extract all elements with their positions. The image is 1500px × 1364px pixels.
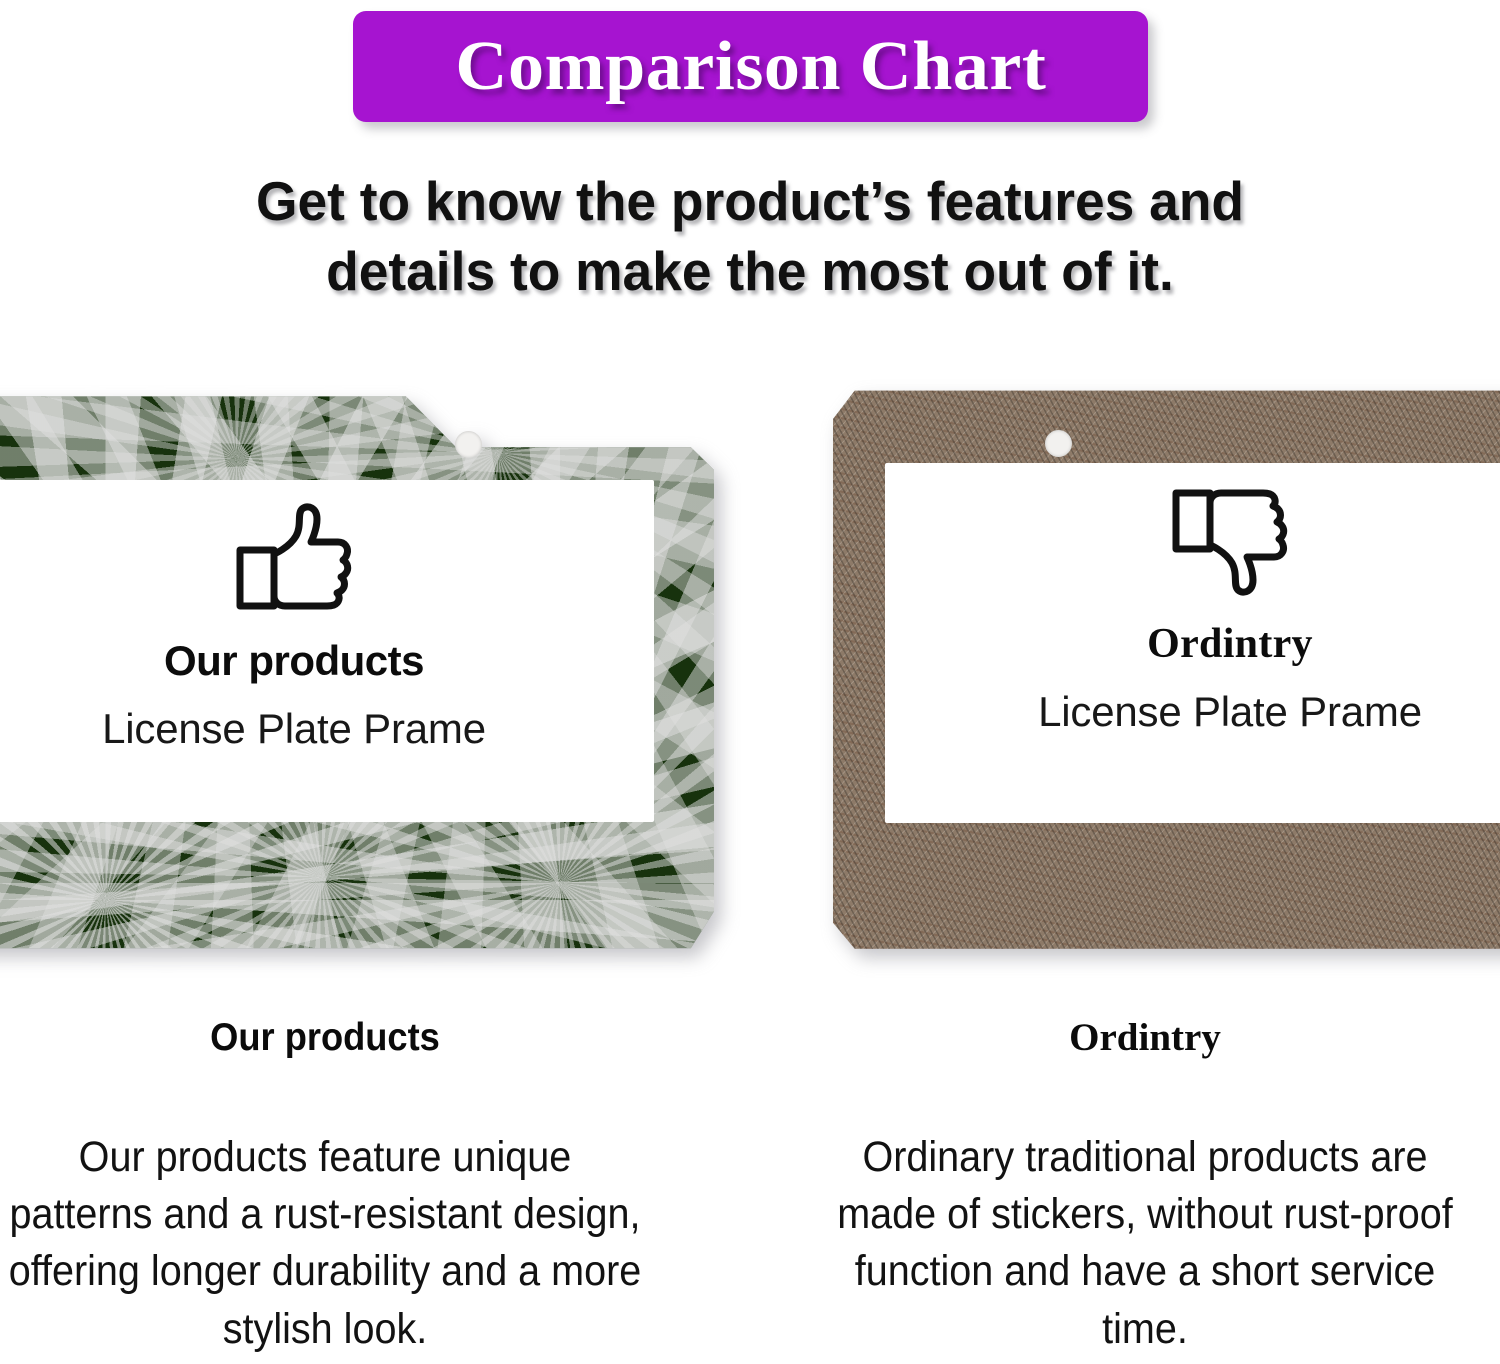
column-body-ours: Our products feature unique patterns and… [3, 1129, 647, 1358]
comparison-chart-page: Comparison Chart Get to know the product… [0, 0, 1500, 1364]
comparison-column-ours: Our products Our products feature unique… [0, 1018, 675, 1358]
column-heading-ordinary: Ordintry [795, 1018, 1495, 1057]
thumbs-down-icon [1171, 485, 1289, 597]
subtitle-line-1: Get to know the product’s features and [23, 166, 1478, 236]
page-title: Comparison Chart [455, 32, 1046, 102]
column-body-ordinary: Ordinary traditional products are made o… [823, 1129, 1467, 1358]
window-title-ours: Our products [164, 640, 424, 682]
comparison-columns: Our products Our products feature unique… [0, 1018, 1500, 1364]
plate-window-ours: Our products License Plate Prame [0, 480, 654, 822]
product-frame-ordinary: Ordintry License Plate Prame [833, 385, 1500, 951]
plate-window-ordinary: Ordintry License Plate Prame [885, 463, 1500, 823]
column-heading-ours: Our products [0, 1018, 651, 1057]
window-title-ordinary: Ordintry [1147, 623, 1313, 665]
subtitle-line-2: details to make the most out of it. [23, 236, 1478, 306]
screw-hole [455, 431, 482, 458]
thumbs-up-icon [235, 502, 353, 614]
screw-hole [1045, 430, 1072, 457]
product-frame-ours: Our products License Plate Prame [0, 385, 714, 951]
subtitle: Get to know the product’s features and d… [23, 166, 1478, 307]
comparison-column-ordinary: Ordintry Ordinary traditional products a… [795, 1018, 1495, 1358]
title-banner: Comparison Chart [353, 11, 1148, 122]
window-subtitle-ordinary: License Plate Prame [1038, 691, 1422, 733]
window-subtitle-ours: License Plate Prame [102, 708, 486, 750]
